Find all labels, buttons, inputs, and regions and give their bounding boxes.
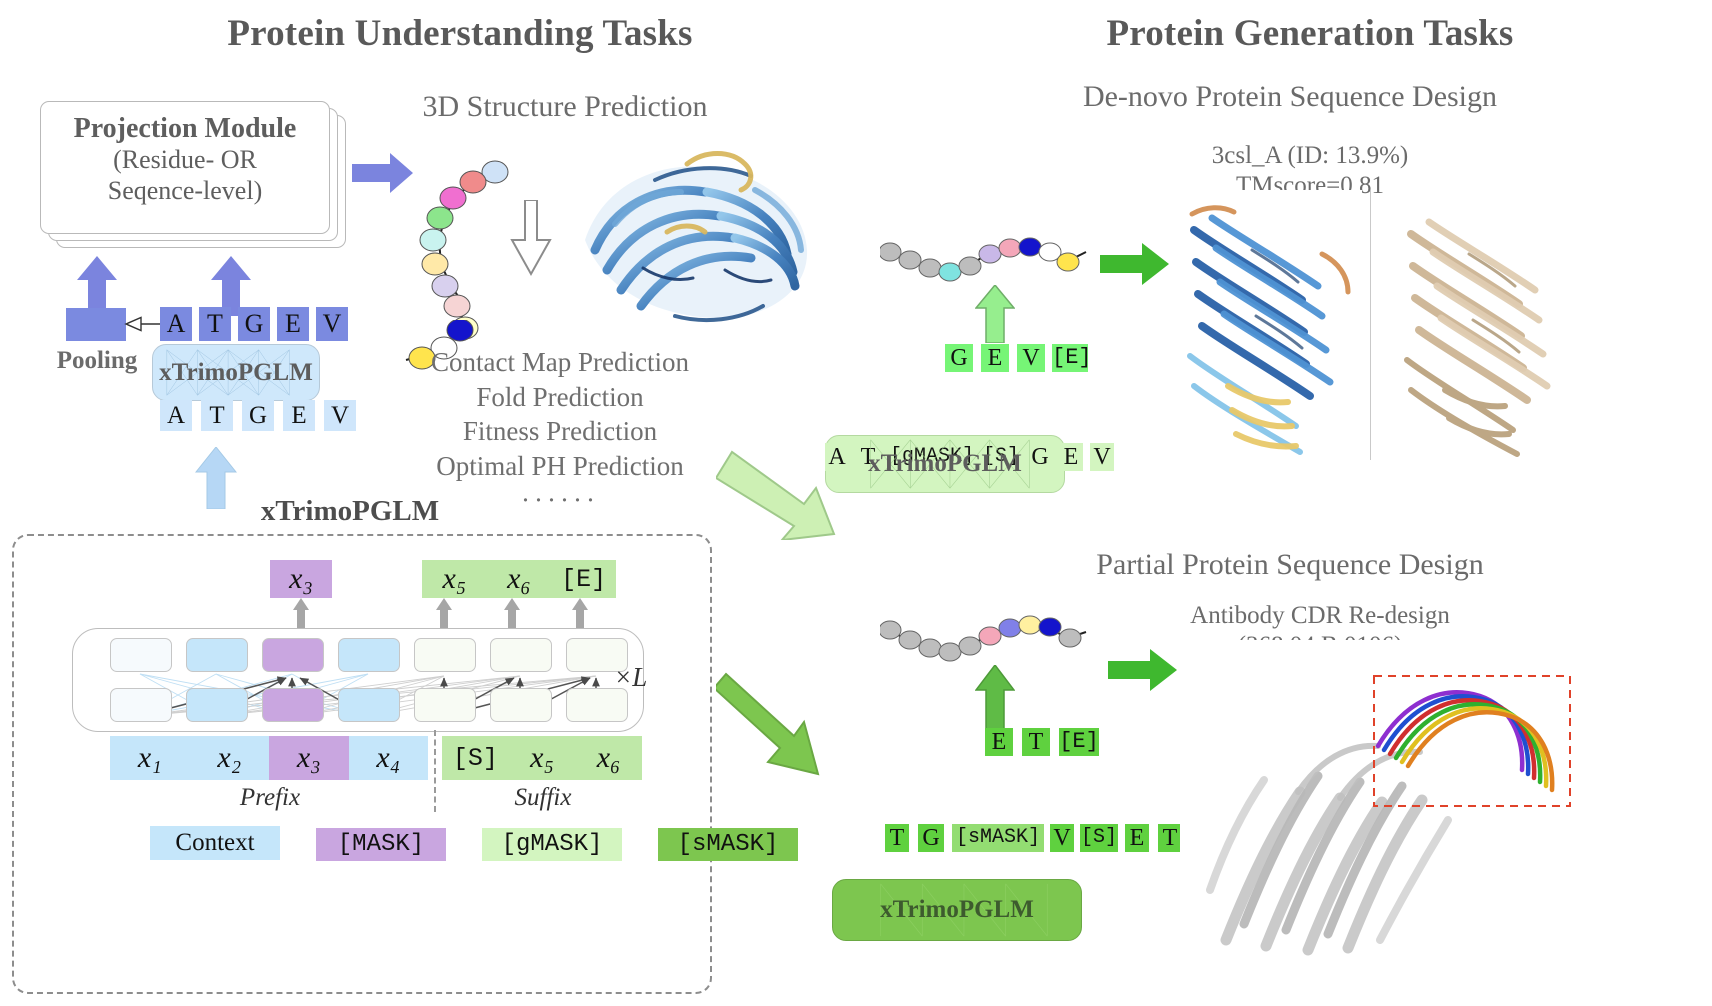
- understanding-output-tokens: A T G E V: [160, 307, 348, 341]
- denovo-model-box: xTrimoPGLM: [825, 435, 1065, 493]
- denovo-structure-divider: [1370, 190, 1371, 460]
- partial-output-tokens: E T [E]: [985, 728, 1099, 756]
- task-item: Fitness Prediction: [400, 414, 720, 449]
- legend-context: Context: [150, 826, 280, 860]
- structure-prediction-title: 3D Structure Prediction: [370, 90, 760, 124]
- token: E: [985, 728, 1013, 756]
- cell: [338, 638, 400, 672]
- input-token: x₆: [575, 736, 642, 780]
- token: T: [1022, 728, 1050, 756]
- transformer-top-cells: [110, 638, 628, 672]
- page-title-generation: Protein Generation Tasks: [1000, 12, 1620, 55]
- token: V: [324, 400, 356, 431]
- suffix-label: Suffix: [448, 784, 638, 812]
- token: E: [277, 307, 309, 341]
- pooling-label: Pooling: [42, 347, 152, 375]
- task-item: Optimal PH Prediction: [400, 449, 720, 484]
- cell: [186, 688, 248, 722]
- pooling-box: [66, 308, 126, 341]
- transformer-output-masked: x₃: [270, 560, 332, 598]
- understanding-model-label: xTrimoPGLM: [159, 359, 313, 387]
- projection-module-line1: (Residue- OR: [41, 145, 329, 176]
- projection-module-title: Projection Module: [41, 113, 329, 145]
- understanding-task-list: Contact Map Prediction Fold Prediction F…: [400, 345, 720, 518]
- input-token: x₂: [190, 736, 270, 780]
- transformer-repeat-label: ×L: [614, 662, 647, 693]
- denovo-title: De-novo Protein Sequence Design: [1010, 80, 1570, 114]
- token-start: [S]: [1080, 824, 1118, 852]
- token-end: [E]: [1059, 728, 1099, 756]
- input-token-masked: x₃: [269, 736, 349, 780]
- token: E: [981, 344, 1009, 372]
- cell: [110, 688, 172, 722]
- token: V: [1017, 344, 1045, 372]
- transformer-output-token: [E]: [551, 560, 616, 598]
- partial-title: Partial Protein Sequence Design: [1010, 548, 1570, 582]
- cell: [186, 638, 248, 672]
- token: T: [885, 824, 909, 852]
- page-title-understanding: Protein Understanding Tasks: [150, 12, 770, 55]
- cell: [110, 638, 172, 672]
- task-item: Contact Map Prediction: [400, 345, 720, 380]
- transformer-output-token: x₅: [422, 560, 487, 598]
- transformer-bottom-cells: [110, 688, 628, 722]
- token: A: [160, 307, 192, 341]
- token: T: [1158, 824, 1182, 852]
- partial-up-arrow-icon: [975, 665, 1015, 729]
- cell: [490, 688, 552, 722]
- prefix-suffix-divider: [434, 730, 436, 812]
- partial-to-structure-arrow-icon: [1108, 648, 1178, 692]
- legend-gmask: [gMASK]: [482, 828, 622, 861]
- task-item: Fold Prediction: [400, 380, 720, 415]
- token: A: [160, 400, 192, 431]
- projection-module-line2: Seqence-level): [41, 176, 329, 207]
- token-end: [E]: [1052, 344, 1088, 372]
- transformer-output-arrows-icon: [258, 598, 628, 630]
- input-token: x₅: [509, 736, 576, 780]
- cell: [262, 688, 324, 722]
- legend-mask: [MASK]: [316, 828, 446, 861]
- token: T: [201, 400, 233, 431]
- transformer-caption: xTrimoPGLM: [180, 495, 520, 528]
- prefix-label: Prefix: [170, 784, 370, 812]
- token: E: [283, 400, 315, 431]
- projection-module-card: Projection Module (Residue- OR Seqence-l…: [40, 101, 330, 234]
- understanding-model-box: xTrimoPGLM: [152, 344, 320, 401]
- structure-hollow-arrow-icon: [508, 200, 554, 278]
- denovo-structure-tan-image: [1385, 190, 1575, 460]
- to-denovo-arrow-icon: [716, 448, 836, 540]
- transformer-input-suffix: [S] x₅ x₆: [442, 736, 642, 780]
- transformer-output-token: x₆: [487, 560, 552, 598]
- projection-to-structure-arrow-icon: [352, 152, 414, 194]
- denovo-model-label: xTrimoPGLM: [868, 450, 1022, 478]
- token-smask: [sMASK]: [952, 824, 1044, 852]
- denovo-structure-blue-image: [1172, 190, 1362, 460]
- token: G: [945, 344, 973, 372]
- protein-structure-3d-image: [555, 120, 830, 340]
- token: E: [1125, 824, 1149, 852]
- token: V: [1090, 443, 1114, 471]
- transformer-input-prefix: x₁ x₂ x₃ x₄: [110, 736, 428, 780]
- cell: [490, 638, 552, 672]
- pooling-up-arrow-icon: [76, 256, 118, 316]
- token: T: [199, 307, 231, 341]
- denovo-result-id: 3csl_A (ID: 13.9%): [1130, 140, 1490, 171]
- input-token: x₁: [110, 736, 190, 780]
- input-token: x₄: [349, 736, 429, 780]
- cell: [262, 638, 324, 672]
- denovo-output-tokens: G E V [E]: [945, 344, 1088, 372]
- token: V: [1050, 824, 1074, 852]
- cell: [338, 688, 400, 722]
- input-token-start: [S]: [442, 736, 509, 780]
- denovo-up-arrow-icon: [975, 285, 1015, 343]
- understanding-input-tokens: A T G E V: [160, 400, 356, 431]
- token: G: [918, 824, 944, 852]
- partial-model-label: xTrimoPGLM: [880, 896, 1034, 924]
- legend-smask: [sMASK]: [658, 828, 798, 861]
- denovo-to-structure-arrow-icon: [1100, 242, 1170, 286]
- transformer-legend: Context [MASK] [gMASK] [sMASK]: [150, 826, 798, 861]
- antibody-structure-image: [1180, 640, 1580, 970]
- token: G: [242, 400, 274, 431]
- token: V: [316, 307, 348, 341]
- cell: [566, 688, 628, 722]
- token: G: [238, 307, 270, 341]
- cell: [414, 688, 476, 722]
- partial-model-box: xTrimoPGLM: [832, 879, 1082, 941]
- to-partial-arrow-icon: [716, 660, 836, 780]
- transformer-output-suffix-group: x₅ x₆ [E]: [422, 560, 616, 598]
- partial-input-tokens: T G [sMASK] V [S] E T: [885, 824, 1182, 852]
- partial-result-line1: Antibody CDR Re-design: [1120, 600, 1520, 631]
- cell: [414, 638, 476, 672]
